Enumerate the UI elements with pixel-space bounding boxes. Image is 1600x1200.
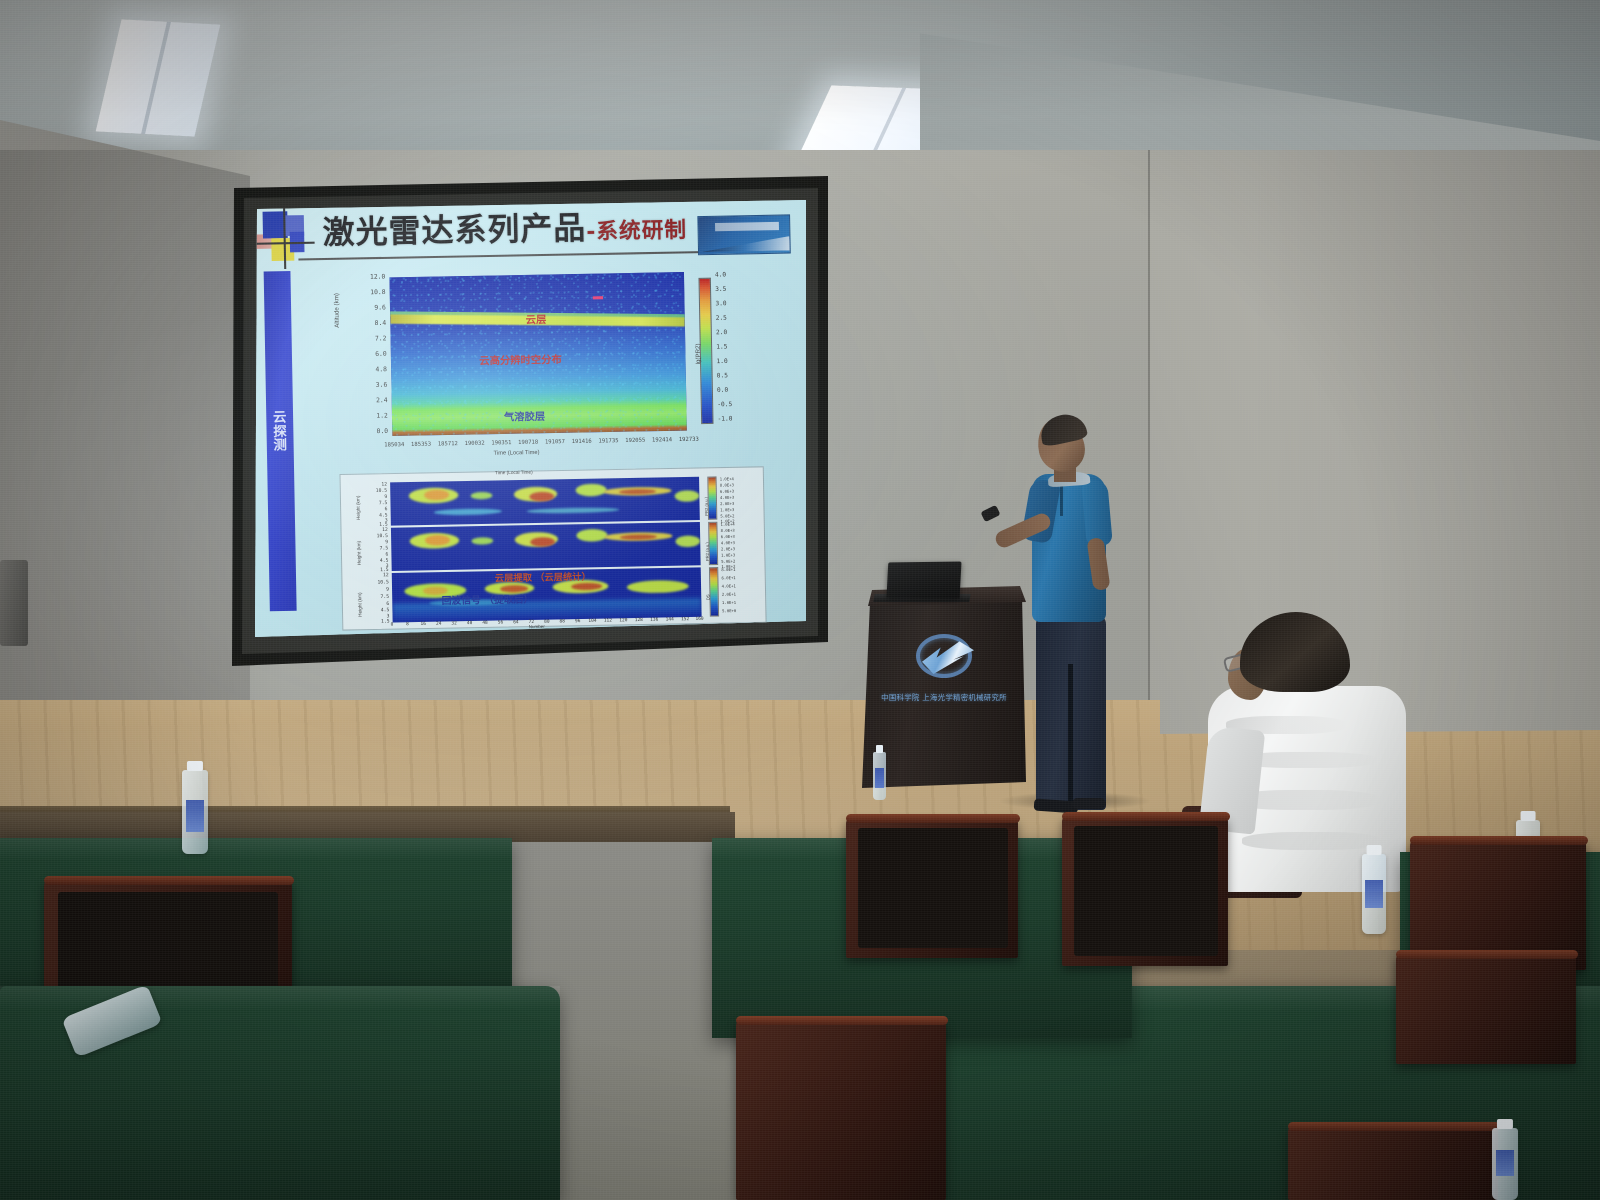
- chair-back-right-rail: [1396, 950, 1578, 959]
- water-bottle-bottom-right: [1492, 1128, 1518, 1200]
- bottom-chart-panel-raw: [390, 477, 700, 526]
- top-chart-cloud-label: 云层: [526, 311, 547, 327]
- wall-speaker: [0, 560, 28, 646]
- bottom-chart-panel-extracted: [391, 522, 701, 571]
- bottom-chart: Time (Local Time): [339, 466, 766, 630]
- top-chart-heatmap: 云层 云高分辨时空分布 气溶胶层: [389, 272, 686, 436]
- bottom-chart-xlabel: Number: [529, 624, 545, 629]
- top-chart-ylabel: Altitude (km): [334, 293, 341, 328]
- bottom-chart-colorbar-3: [709, 567, 719, 617]
- front-left-table-upper-highlight: [0, 838, 512, 860]
- top-chart-xlabel: Time (Local Time): [494, 450, 540, 457]
- bottom-chart-yticks-3: 1210.59 7.564.5 31.5: [365, 573, 391, 623]
- bottom-chart-caption-echo: 回波信号 （提取后）: [442, 591, 534, 607]
- slide-sidebar-label: 云探测: [268, 411, 291, 454]
- bottom-chart-caption-extraction: 云层提取 （云层统计）: [495, 569, 591, 584]
- audience-hair: [1240, 612, 1350, 692]
- top-chart-marker: [593, 296, 603, 299]
- chair-front-center: [736, 1020, 946, 1200]
- slide-title-sub: -系统研制: [586, 217, 687, 244]
- bottom-chart-top-label: Time (Local Time): [495, 469, 533, 475]
- slide-logo-icon: [258, 209, 313, 264]
- top-chart-aerosol-label: 气溶胶层: [504, 408, 545, 424]
- chair-front-center-rail: [736, 1016, 948, 1025]
- chair-bottom-right: [1288, 1126, 1498, 1200]
- projection-screen-surface: 激光雷达系列产品-系统研制 云探测 Altitude (km) 12.010.8…: [252, 197, 806, 637]
- presenter-shirt-placket: [1060, 482, 1063, 516]
- bottom-chart-colorbar-label-2: PR2 (a.u.): [704, 542, 709, 561]
- presenter: [1010, 418, 1140, 810]
- bottom-chart-yticks-2: 1210.59 7.564.5 31.5: [364, 528, 390, 572]
- audience-member: [1196, 612, 1426, 892]
- lidar-equipment-photo-icon: [697, 214, 790, 255]
- top-chart-colorbar-label: lg(PR2): [696, 343, 703, 364]
- presentation-slide: 激光雷达系列产品-系统研制 云探测 Altitude (km) 12.010.8…: [252, 197, 806, 637]
- slide-title-main: 激光雷达系列产品: [322, 210, 586, 252]
- chair-center-pad: [1074, 826, 1218, 956]
- bottom-chart-ylabel-3: Height (km): [357, 592, 363, 617]
- presenter-shoe-right: [1072, 798, 1106, 809]
- presenter-leg-split: [1068, 664, 1073, 804]
- bottom-chart-yticks-1: 1210.59 7.564.5 31.5: [363, 482, 389, 526]
- water-bottle-podium: [873, 752, 886, 800]
- presenter-laptop: [887, 562, 962, 599]
- presenter-sleeve-right: [1081, 479, 1113, 547]
- chair-left-rail: [44, 876, 294, 885]
- bottom-chart-colorbar-label-1: PR2 (a.u.): [704, 497, 709, 516]
- chair-center-left-rail: [846, 814, 1020, 823]
- top-chart-caption: 云高分辨时空分布: [479, 350, 562, 367]
- water-bottle-right-table-a: [1362, 854, 1386, 934]
- top-chart-yticks: 12.010.8 9.68.4 7.26.0 4.83.6 2.41.2 0.0: [354, 271, 390, 440]
- chair-back-right: [1396, 954, 1576, 1064]
- chair-center-rail: [1062, 812, 1230, 821]
- siom-swoosh-logo-icon: [908, 630, 986, 682]
- conference-room-photo: 激光雷达系列产品-系统研制 云探测 Altitude (km) 12.010.8…: [0, 0, 1600, 1200]
- chair-bottom-right-rail: [1288, 1122, 1500, 1131]
- podium: 中国科学院 上海光学精密机械研究所: [862, 596, 1026, 788]
- bottom-chart-ylabel-2: Height (km): [356, 541, 362, 566]
- bottom-chart-ylabel-1: Height (km): [355, 496, 361, 521]
- water-bottle-front-left-table: [182, 770, 208, 854]
- top-chart: Altitude (km) 12.010.8 9.68.4 7.26.0 4.8…: [336, 264, 760, 467]
- podium-org-text: 中国科学院 上海光学精密机械研究所: [868, 692, 1020, 703]
- chair-center-left-pad: [858, 828, 1008, 948]
- front-left-table-lower-highlight: [0, 986, 560, 1010]
- top-chart-colorbar-ticks: 4.03.5 3.02.5 2.01.5 1.00.5 0.0-0.5 -1.0: [715, 271, 741, 432]
- bottom-chart-colorbar-label-3: DS: [705, 594, 710, 600]
- chair-far-right-rail: [1410, 836, 1588, 845]
